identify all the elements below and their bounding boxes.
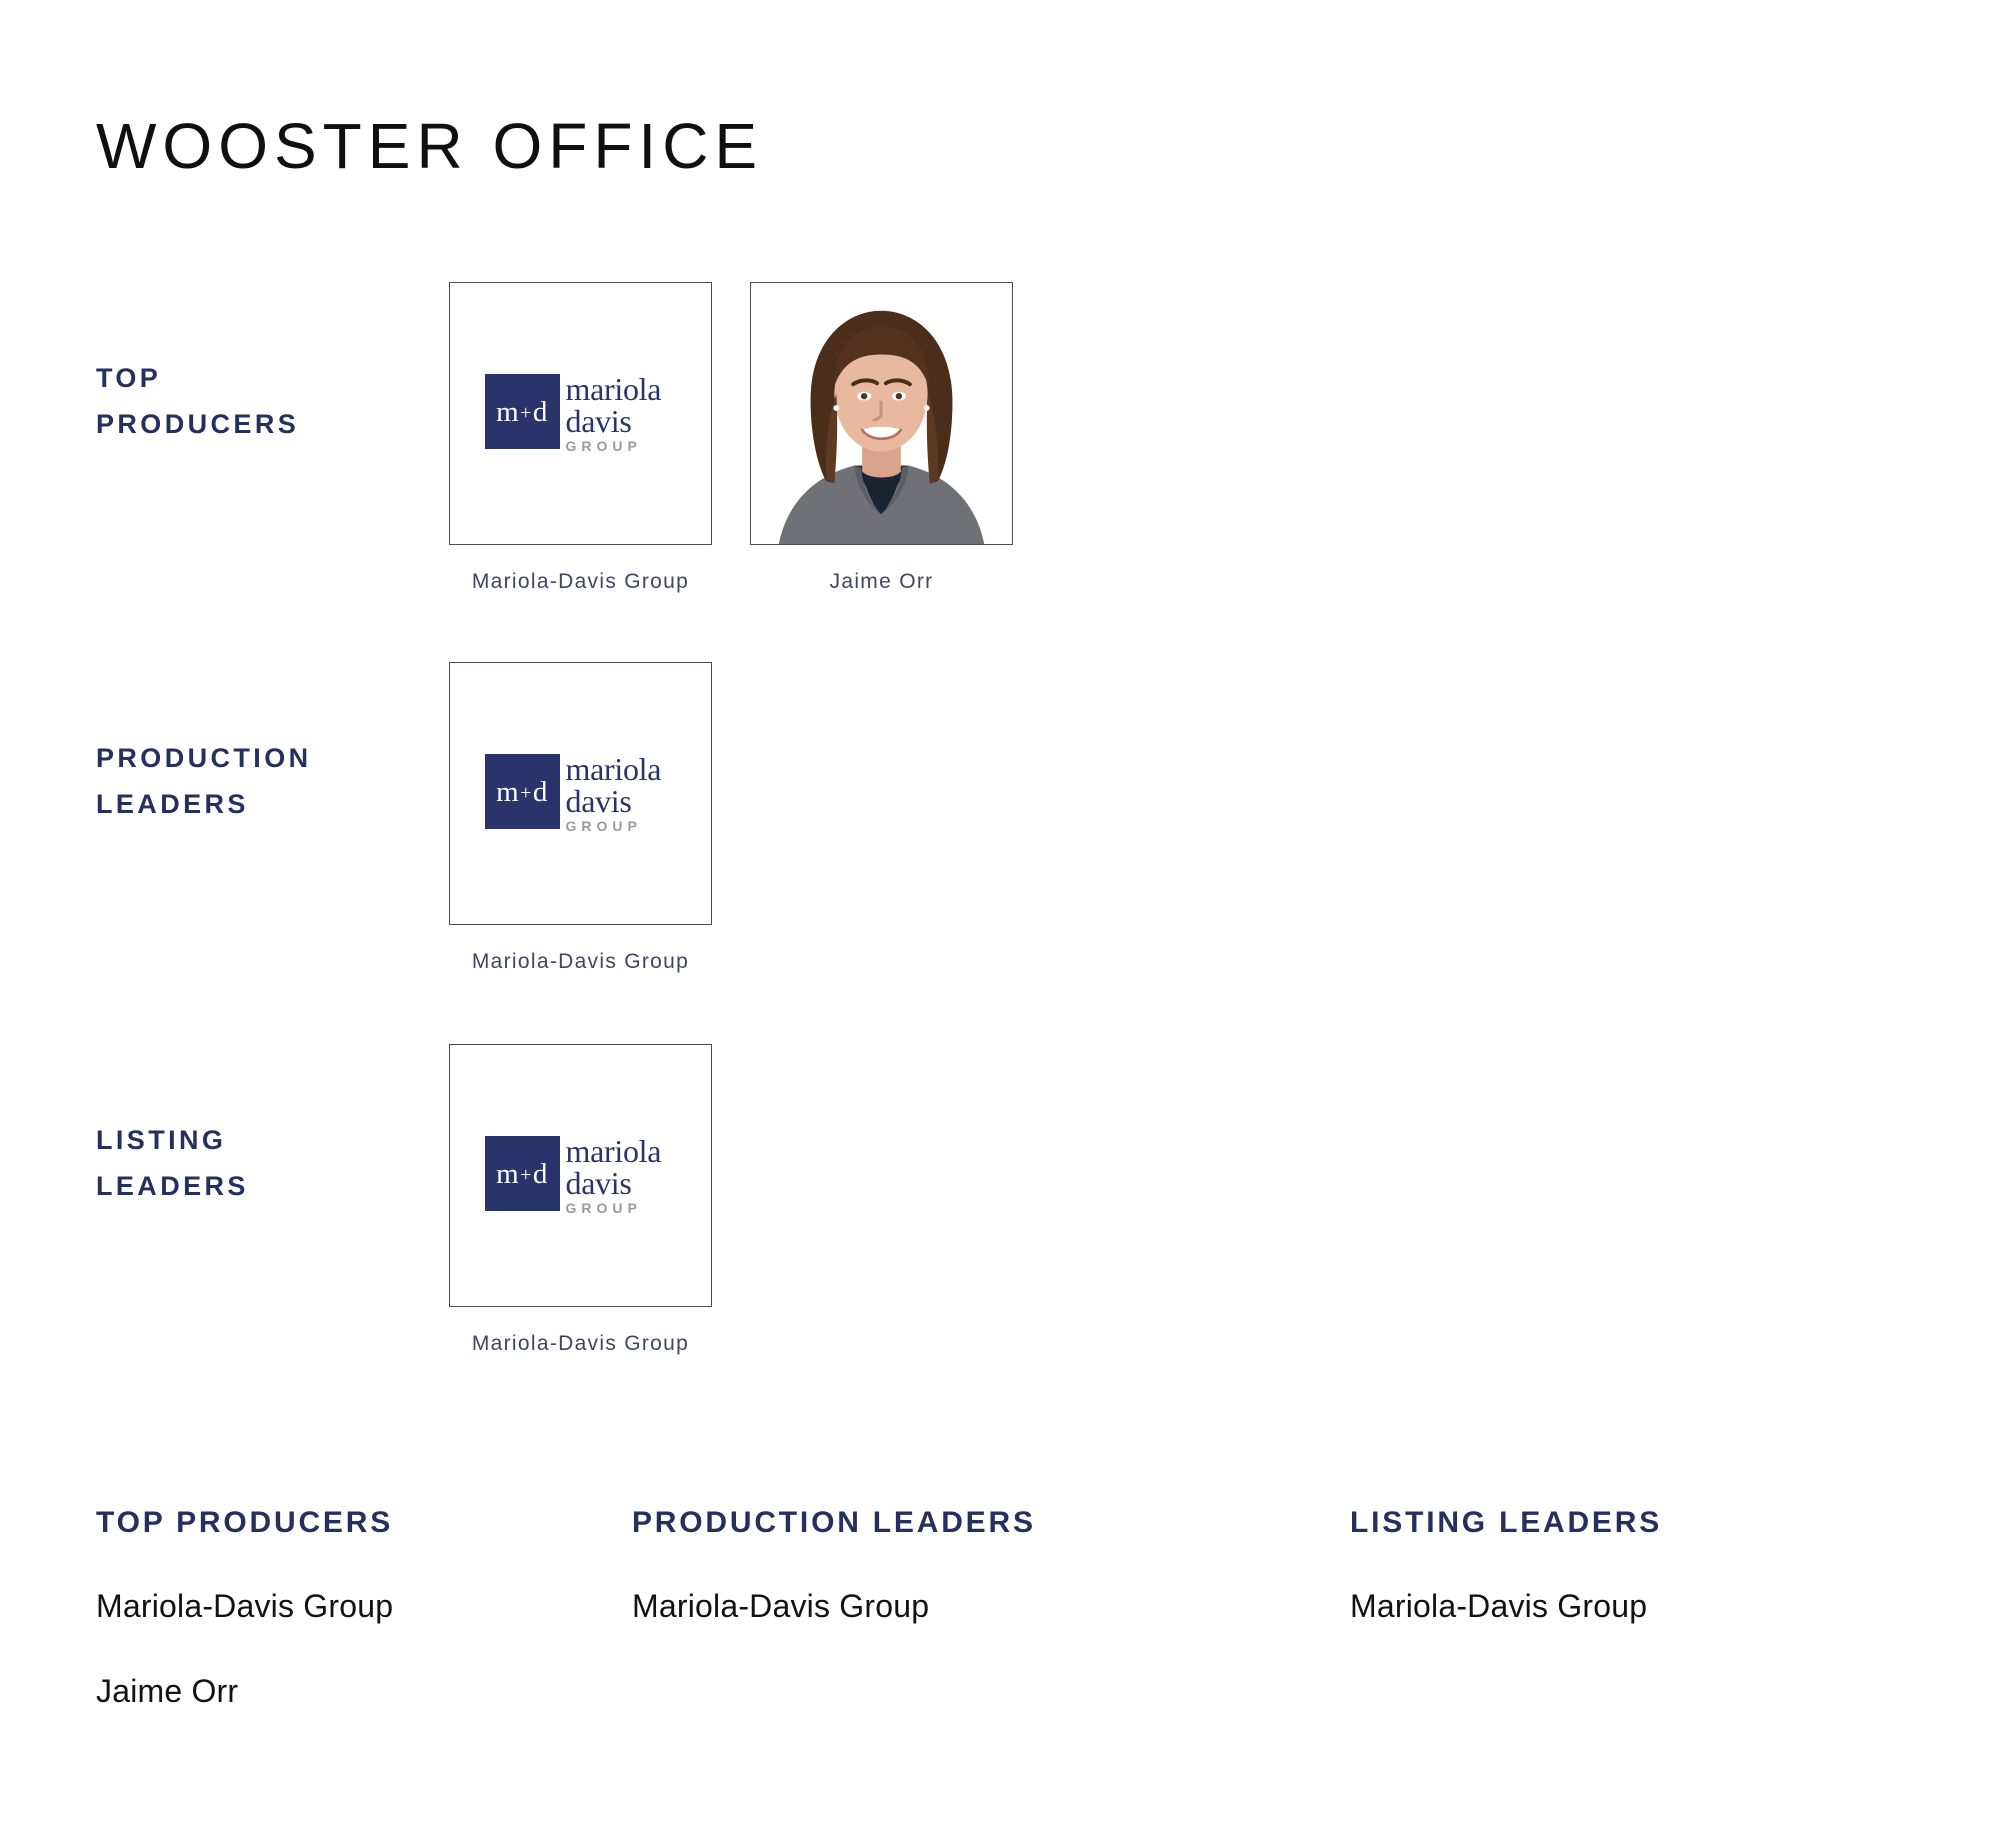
award-category-label-line1: LISTING <box>96 1117 426 1163</box>
summary-name-item: Mariola-Davis Group <box>1350 1588 2000 1625</box>
md-monogram-plus: + <box>519 402 533 424</box>
md-monogram-m: m <box>496 1158 519 1190</box>
md-monogram-d: d <box>533 396 548 428</box>
summary-column: TOP PRODUCERSMariola-Davis GroupJaime Or… <box>0 1506 620 1710</box>
md-wordmark-line-davis: davis <box>566 786 677 817</box>
md-wordmark: marioladavisGROUP <box>560 1136 677 1214</box>
summary-name-list: Mariola-Davis Group <box>1350 1588 2000 1625</box>
award-card-list: m+dmarioladavisGROUPMariola-Davis Group <box>448 662 713 977</box>
md-monogram-m: m <box>496 776 519 808</box>
logo-frame: m+dmarioladavisGROUP <box>449 1044 712 1307</box>
summary-column-heading: PRODUCTION LEADERS <box>632 1506 1350 1540</box>
md-monogram-text: m+d <box>496 398 548 427</box>
award-category-label-line2: LEADERS <box>96 781 426 827</box>
summary-column-heading: LISTING LEADERS <box>1350 1506 2000 1540</box>
summary-name-list: Mariola-Davis Group <box>632 1588 1350 1625</box>
award-card[interactable]: m+dmarioladavisGROUPMariola-Davis Group <box>448 662 713 977</box>
md-monogram-square: m+d <box>485 1136 560 1211</box>
award-category-label: TOPPRODUCERS <box>96 355 426 448</box>
md-wordmark-line-group: GROUP <box>566 439 677 453</box>
award-card-caption: Mariola-Davis Group <box>461 1329 701 1359</box>
md-wordmark-line-group: GROUP <box>566 1201 677 1215</box>
mariola-davis-logo: m+dmarioladavisGROUP <box>485 754 677 832</box>
award-card-list: m+dmarioladavisGROUPMariola-Davis GroupJ… <box>448 282 1014 597</box>
md-wordmark-line-davis: davis <box>566 1168 677 1199</box>
award-category-label: LISTINGLEADERS <box>96 1117 426 1210</box>
page-title: WOOSTER OFFICE <box>96 111 763 181</box>
md-monogram-text: m+d <box>496 1160 548 1189</box>
md-monogram-plus: + <box>519 1164 533 1186</box>
md-wordmark-line-group: GROUP <box>566 819 677 833</box>
md-wordmark-line-mariola: mariola <box>566 1136 677 1167</box>
summary-section: TOP PRODUCERSMariola-Davis GroupJaime Or… <box>0 1506 2000 1710</box>
award-category-label-line1: PRODUCTION <box>96 735 426 781</box>
award-card[interactable]: m+dmarioladavisGROUPMariola-Davis Group <box>448 1044 713 1359</box>
md-monogram-text: m+d <box>496 778 548 807</box>
md-monogram-square: m+d <box>485 754 560 829</box>
award-category-label: PRODUCTIONLEADERS <box>96 735 426 828</box>
summary-name-item: Mariola-Davis Group <box>96 1588 620 1625</box>
md-wordmark-line-mariola: mariola <box>566 374 677 405</box>
md-monogram-d: d <box>533 776 548 808</box>
award-category-label-line2: PRODUCERS <box>96 401 426 447</box>
logo-frame: m+dmarioladavisGROUP <box>449 662 712 925</box>
md-monogram-square: m+d <box>485 374 560 449</box>
md-monogram-d: d <box>533 1158 548 1190</box>
headshot-frame <box>750 282 1013 545</box>
summary-name-list: Mariola-Davis GroupJaime Orr <box>96 1588 620 1710</box>
md-wordmark-line-mariola: mariola <box>566 754 677 785</box>
award-card[interactable]: Jaime Orr <box>749 282 1014 597</box>
award-card-caption: Mariola-Davis Group <box>461 947 701 977</box>
summary-column-heading: TOP PRODUCERS <box>96 1506 620 1540</box>
award-category-label-line1: TOP <box>96 355 426 401</box>
summary-column: PRODUCTION LEADERSMariola-Davis Group <box>620 1506 1350 1710</box>
award-card[interactable]: m+dmarioladavisGROUPMariola-Davis Group <box>448 282 713 597</box>
summary-column: LISTING LEADERSMariola-Davis Group <box>1350 1506 2000 1710</box>
md-wordmark: marioladavisGROUP <box>560 754 677 832</box>
md-wordmark-line-davis: davis <box>566 406 677 437</box>
mariola-davis-logo: m+dmarioladavisGROUP <box>485 374 677 452</box>
summary-name-item: Mariola-Davis Group <box>632 1588 1350 1625</box>
award-category-label-line2: LEADERS <box>96 1163 426 1209</box>
md-monogram-plus: + <box>519 782 533 804</box>
mariola-davis-logo: m+dmarioladavisGROUP <box>485 1136 677 1214</box>
award-card-list: m+dmarioladavisGROUPMariola-Davis Group <box>448 1044 713 1359</box>
md-wordmark: marioladavisGROUP <box>560 374 677 452</box>
headshot-photo <box>751 283 1012 544</box>
award-card-caption: Mariola-Davis Group <box>461 567 701 597</box>
summary-name-item: Jaime Orr <box>96 1673 620 1710</box>
md-monogram-m: m <box>496 396 519 428</box>
award-card-caption: Jaime Orr <box>762 567 1002 597</box>
logo-frame: m+dmarioladavisGROUP <box>449 282 712 545</box>
